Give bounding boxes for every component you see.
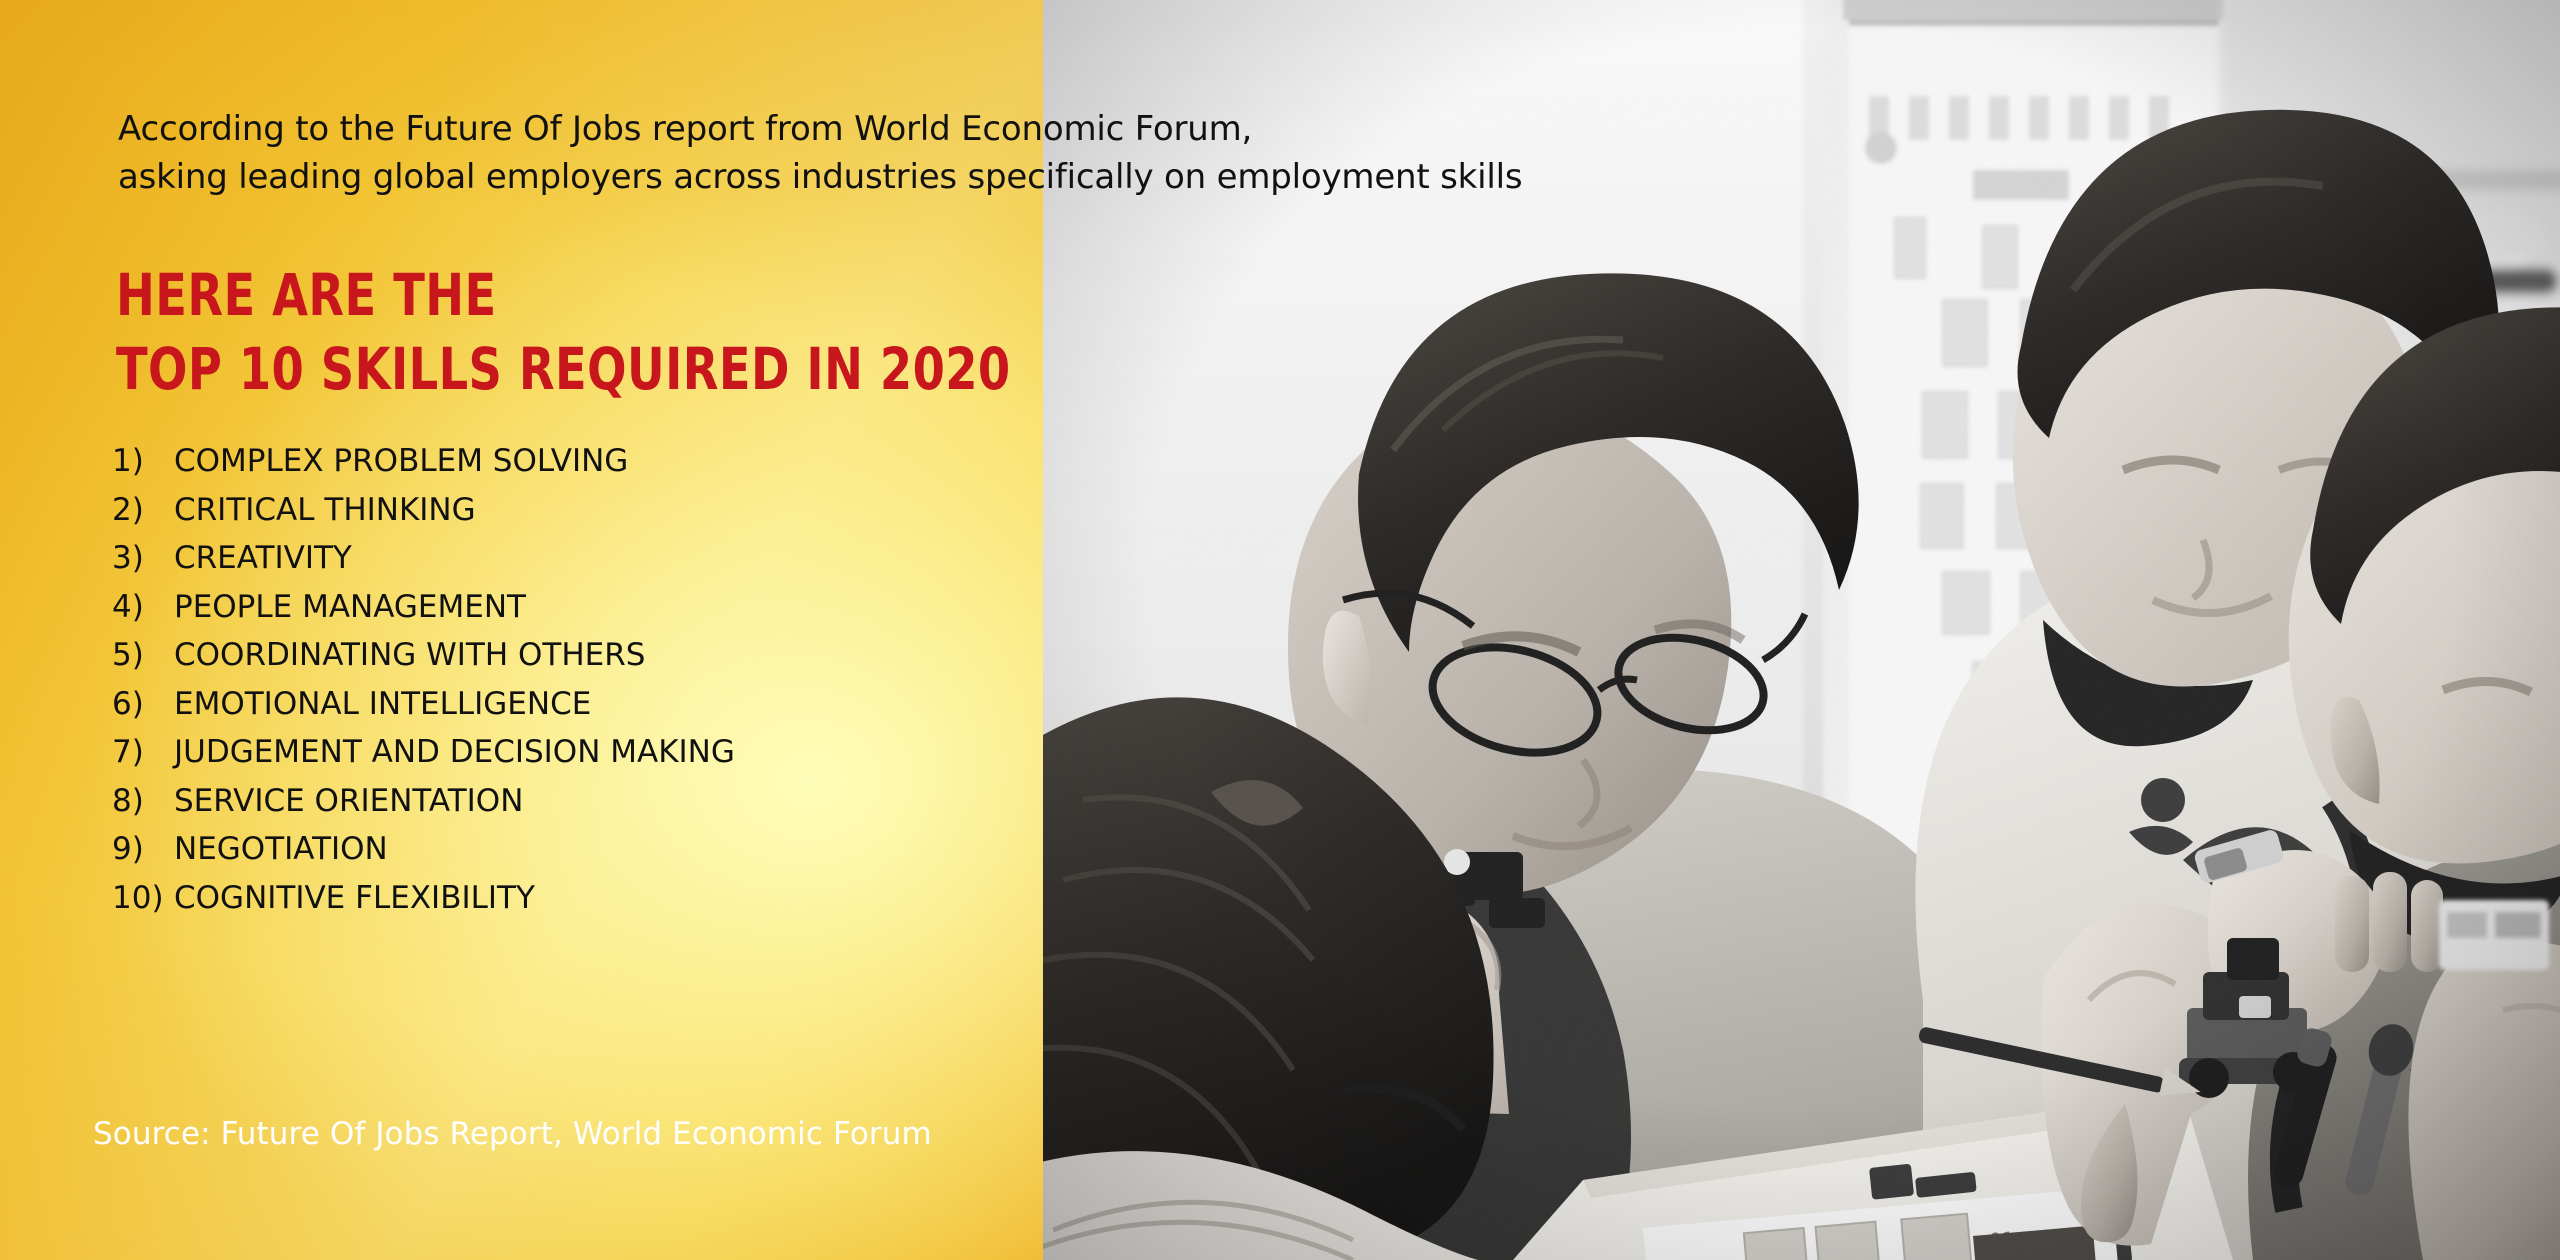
list-item-number: 3) bbox=[112, 534, 174, 583]
list-item: 2)CRITICAL THINKING bbox=[112, 486, 735, 535]
list-item: 8)SERVICE ORIENTATION bbox=[112, 777, 735, 826]
list-item-label: CREATIVITY bbox=[174, 534, 352, 583]
intro-line-1: According to the Future Of Jobs report f… bbox=[118, 105, 1618, 153]
list-item-label: COMPLEX PROBLEM SOLVING bbox=[174, 437, 628, 486]
list-item-number: 10) bbox=[112, 874, 174, 923]
list-item-number: 2) bbox=[112, 486, 174, 535]
intro-line-2: asking leading global employers across i… bbox=[118, 153, 1618, 201]
list-item-number: 1) bbox=[112, 437, 174, 486]
list-item-label: PEOPLE MANAGEMENT bbox=[174, 583, 526, 632]
list-item-label: JUDGEMENT AND DECISION MAKING bbox=[174, 728, 735, 777]
source-attribution: Source: Future Of Jobs Report, World Eco… bbox=[93, 1114, 932, 1154]
headline-line-1: HERE ARE THE bbox=[116, 258, 1011, 332]
list-item-number: 9) bbox=[112, 825, 174, 874]
skills-list: 1)COMPLEX PROBLEM SOLVING2)CRITICAL THIN… bbox=[112, 437, 735, 922]
list-item: 10)COGNITIVE FLEXIBILITY bbox=[112, 874, 735, 923]
list-item-label: COGNITIVE FLEXIBILITY bbox=[174, 874, 535, 923]
list-item: 3)CREATIVITY bbox=[112, 534, 735, 583]
list-item-number: 7) bbox=[112, 728, 174, 777]
list-item: 4)PEOPLE MANAGEMENT bbox=[112, 583, 735, 632]
list-item: 7)JUDGEMENT AND DECISION MAKING bbox=[112, 728, 735, 777]
list-item-label: EMOTIONAL INTELLIGENCE bbox=[174, 680, 591, 729]
list-item-label: SERVICE ORIENTATION bbox=[174, 777, 523, 826]
list-item-number: 4) bbox=[112, 583, 174, 632]
list-item-label: COORDINATING WITH OTHERS bbox=[174, 631, 645, 680]
list-item: 5)COORDINATING WITH OTHERS bbox=[112, 631, 735, 680]
intro-paragraph: According to the Future Of Jobs report f… bbox=[118, 105, 1618, 201]
list-item-number: 6) bbox=[112, 680, 174, 729]
headline-line-2: TOP 10 SKILLS REQUIRED IN 2020 bbox=[116, 332, 1011, 406]
list-item-label: CRITICAL THINKING bbox=[174, 486, 476, 535]
list-item: 6)EMOTIONAL INTELLIGENCE bbox=[112, 680, 735, 729]
list-item: 1)COMPLEX PROBLEM SOLVING bbox=[112, 437, 735, 486]
presentation-slide: 02 01 bbox=[0, 0, 2560, 1260]
list-item-number: 8) bbox=[112, 777, 174, 826]
page-title: HERE ARE THE TOP 10 SKILLS REQUIRED IN 2… bbox=[116, 258, 1011, 406]
list-item-label: NEGOTIATION bbox=[174, 825, 388, 874]
list-item-number: 5) bbox=[112, 631, 174, 680]
list-item: 9)NEGOTIATION bbox=[112, 825, 735, 874]
